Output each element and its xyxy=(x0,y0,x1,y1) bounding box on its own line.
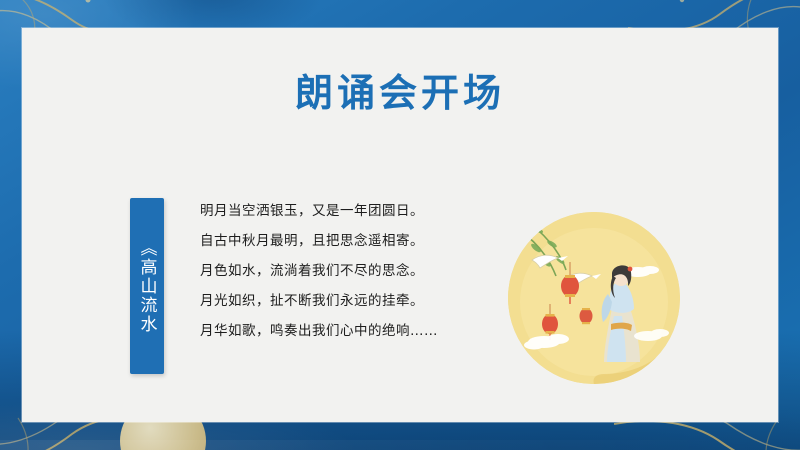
poem-block: 明月当空洒银玉，又是一年团圆日。 自古中秋月最明，且把思念遥相寄。 月色如水，流… xyxy=(200,196,500,346)
content-card: 朗诵会开场 《高山流水 明月当空洒银玉，又是一年团圆日。 自古中秋月最明，且把思… xyxy=(22,28,778,422)
vertical-section-label: 《高山流水 xyxy=(130,198,164,374)
poem-line: 明月当空洒银玉，又是一年团圆日。 xyxy=(200,196,500,226)
vertical-section-label-text: 《高山流水 xyxy=(135,239,160,334)
poem-line: 月华如歌，鸣奏出我们心中的绝响…… xyxy=(200,316,500,346)
illustration-graphic xyxy=(508,212,680,384)
page-title: 朗诵会开场 xyxy=(22,62,778,117)
mid-autumn-illustration xyxy=(508,212,680,384)
slide-canvas: 朗诵会开场 《高山流水 明月当空洒银玉，又是一年团圆日。 自古中秋月最明，且把思… xyxy=(0,0,800,450)
poem-line: 月色如水，流淌着我们不尽的思念。 xyxy=(200,256,500,286)
poem-line: 月光如织，扯不断我们永远的挂牵。 xyxy=(200,286,500,316)
slide-footer-accent xyxy=(0,440,800,450)
poem-line: 自古中秋月最明，且把思念遥相寄。 xyxy=(200,226,500,256)
